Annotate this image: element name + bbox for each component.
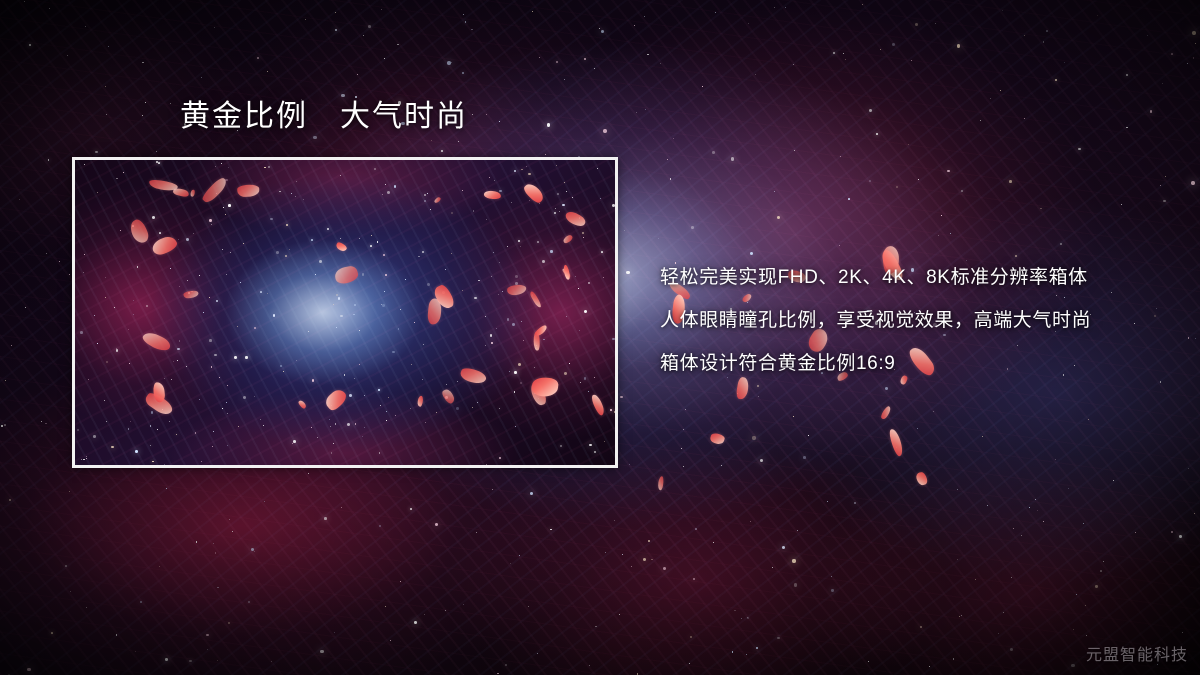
watermark: 元盟智能科技 xyxy=(1086,641,1188,665)
petal xyxy=(916,471,928,486)
body-copy-line-3: 箱体设计符合黄金比例16:9 xyxy=(660,342,1160,385)
page-title: 黄金比例 大气时尚 xyxy=(180,100,468,135)
preview-image-frame xyxy=(72,157,618,468)
body-copy-line-2: 人体眼睛瞳孔比例，享受视觉效果，高端大气时尚 xyxy=(660,299,1160,342)
preview-image xyxy=(75,160,615,465)
petal xyxy=(888,428,904,458)
body-copy-line-1: 轻松完美实现FHD、2K、4K、8K标准分辨率箱体 xyxy=(660,256,1160,299)
presentation-slide: 黄金比例 大气时尚 轻松完美实现FHD、2K、4K、8K标准分辨率箱体 人体眼睛… xyxy=(0,0,1200,675)
petal xyxy=(708,432,725,445)
body-copy: 轻松完美实现FHD、2K、4K、8K标准分辨率箱体 人体眼睛瞳孔比例，享受视觉效… xyxy=(660,256,1160,385)
petal xyxy=(658,477,665,491)
petal xyxy=(880,406,892,421)
preview-nebula-filaments xyxy=(75,160,615,465)
